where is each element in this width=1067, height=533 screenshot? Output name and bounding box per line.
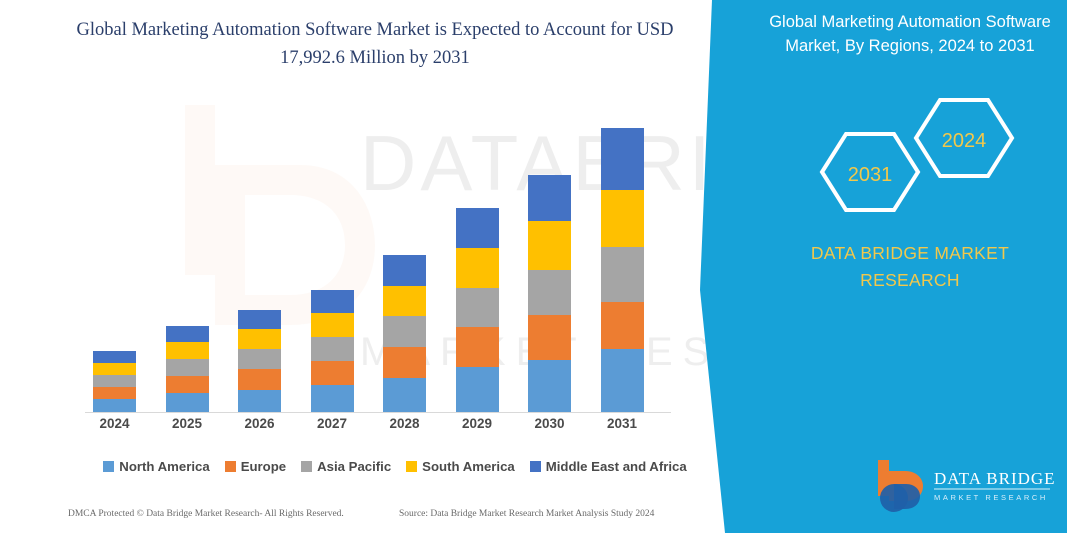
bar-segment-north-america xyxy=(238,390,281,412)
x-axis-line xyxy=(85,412,671,413)
bar-segment-south-america xyxy=(528,221,571,270)
x-axis-label-2029: 2029 xyxy=(445,416,509,431)
bar-segment-north-america xyxy=(311,385,354,412)
legend-label-south-america: South America xyxy=(422,459,515,474)
hexagon-2024-label: 2024 xyxy=(942,130,987,152)
data-bridge-logo: DATA BRIDGE MARKET RESEARCH xyxy=(872,458,1062,514)
bar-segment-middle-east-and-africa xyxy=(383,255,426,286)
x-axis-label-2024: 2024 xyxy=(83,416,147,431)
bar-2029 xyxy=(456,208,499,412)
bar-segment-europe xyxy=(383,347,426,378)
bar-segment-middle-east-and-africa xyxy=(456,208,499,248)
bar-segment-asia-pacific xyxy=(528,270,571,315)
legend-label-middle-east-and-africa: Middle East and Africa xyxy=(546,459,687,474)
bar-2025 xyxy=(166,326,209,412)
logo-subtitle: MARKET RESEARCH xyxy=(934,493,1048,502)
chart-plot-area xyxy=(85,110,675,412)
bar-segment-south-america xyxy=(166,342,209,359)
bar-segment-europe xyxy=(93,387,136,399)
page-title: Global Marketing Automation Software Mar… xyxy=(55,16,695,72)
bar-segment-middle-east-and-africa xyxy=(528,175,571,221)
bar-2031 xyxy=(601,128,644,412)
bar-segment-asia-pacific xyxy=(166,359,209,376)
bar-segment-middle-east-and-africa xyxy=(311,290,354,313)
bar-segment-europe xyxy=(528,315,571,360)
bar-segment-south-america xyxy=(311,313,354,337)
bar-segment-asia-pacific xyxy=(238,349,281,369)
bar-2024 xyxy=(93,351,136,412)
bar-segment-middle-east-and-africa xyxy=(166,326,209,342)
bar-segment-south-america xyxy=(383,286,426,316)
hexagon-badges: 2024 2031 xyxy=(810,96,1030,216)
panel-brand-line2: RESEARCH xyxy=(765,267,1055,294)
bar-segment-asia-pacific xyxy=(601,247,644,302)
legend-item-south-america[interactable]: South America xyxy=(406,459,515,474)
panel-brand-line1: DATA BRIDGE MARKET xyxy=(765,240,1055,267)
bar-2026 xyxy=(238,310,281,412)
legend-swatch-south-america xyxy=(406,461,417,472)
x-axis-label-2025: 2025 xyxy=(155,416,219,431)
bar-segment-europe xyxy=(601,302,644,349)
legend-label-north-america: North America xyxy=(119,459,209,474)
logo-wordmark: DATA BRIDGE xyxy=(934,469,1056,488)
bar-segment-europe xyxy=(166,376,209,393)
bar-2027 xyxy=(311,290,354,412)
legend-item-asia-pacific[interactable]: Asia Pacific xyxy=(301,459,391,474)
footer-source: Source: Data Bridge Market Research Mark… xyxy=(399,509,654,519)
legend-label-asia-pacific: Asia Pacific xyxy=(317,459,391,474)
bar-segment-middle-east-and-africa xyxy=(93,351,136,363)
legend-swatch-europe xyxy=(225,461,236,472)
bar-segment-north-america xyxy=(601,349,644,412)
bar-segment-north-america xyxy=(528,360,571,412)
chart-legend: North AmericaEuropeAsia PacificSouth Ame… xyxy=(95,456,695,476)
legend-item-europe[interactable]: Europe xyxy=(225,459,286,474)
x-axis-label-2028: 2028 xyxy=(373,416,437,431)
bar-segment-south-america xyxy=(238,329,281,349)
legend-item-north-america[interactable]: North America xyxy=(103,459,209,474)
bar-segment-north-america xyxy=(93,399,136,412)
x-axis-label-2031: 2031 xyxy=(590,416,654,431)
bar-segment-south-america xyxy=(456,248,499,288)
bar-segment-europe xyxy=(238,369,281,390)
bar-segment-north-america xyxy=(456,367,499,412)
legend-swatch-middle-east-and-africa xyxy=(530,461,541,472)
chart-container: 20242025202620272028202920302031 xyxy=(85,110,675,415)
bar-segment-south-america xyxy=(601,190,644,247)
bar-segment-north-america xyxy=(166,393,209,412)
panel-brand: DATA BRIDGE MARKET RESEARCH xyxy=(765,240,1055,294)
bar-segment-middle-east-and-africa xyxy=(601,128,644,190)
bar-segment-asia-pacific xyxy=(311,337,354,361)
bar-segment-asia-pacific xyxy=(456,288,499,327)
footer-copyright: DMCA Protected © Data Bridge Market Rese… xyxy=(68,509,344,519)
bar-segment-north-america xyxy=(383,378,426,412)
x-axis-labels: 20242025202620272028202920302031 xyxy=(85,416,675,440)
logo-mark-icon xyxy=(878,460,923,512)
bar-segment-asia-pacific xyxy=(383,316,426,347)
bar-segment-europe xyxy=(456,327,499,367)
hexagon-2031-label: 2031 xyxy=(848,164,893,186)
x-axis-label-2027: 2027 xyxy=(300,416,364,431)
legend-label-europe: Europe xyxy=(241,459,286,474)
legend-swatch-north-america xyxy=(103,461,114,472)
side-panel: Global Marketing Automation Software Mar… xyxy=(690,0,1067,533)
bar-2030 xyxy=(528,175,571,412)
panel-title: Global Marketing Automation Software Mar… xyxy=(760,10,1060,58)
infographic-root: DATABRIDGE MARKET RESEARCH Global Market… xyxy=(0,0,1067,533)
bar-segment-south-america xyxy=(93,363,136,375)
x-axis-label-2030: 2030 xyxy=(518,416,582,431)
x-axis-label-2026: 2026 xyxy=(228,416,292,431)
bar-segment-middle-east-and-africa xyxy=(238,310,281,329)
bar-segment-asia-pacific xyxy=(93,375,136,387)
legend-item-middle-east-and-africa[interactable]: Middle East and Africa xyxy=(530,459,687,474)
bar-2028 xyxy=(383,255,426,412)
bar-segment-europe xyxy=(311,361,354,385)
legend-swatch-asia-pacific xyxy=(301,461,312,472)
